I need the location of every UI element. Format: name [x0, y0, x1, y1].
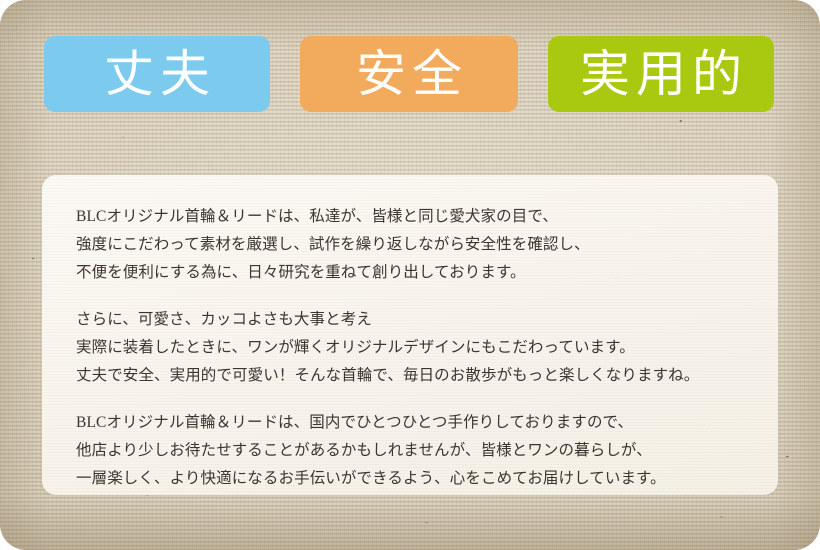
description-paragraph-1: BLCオリジナル首輪＆リードは、私達が、皆様と同じ愛犬家の目で、 強度にこだわっ…	[76, 203, 744, 287]
promo-banner: 丈夫 安全 実用的 BLCオリジナル首輪＆リードは、私達が、皆様と同じ愛犬家の目…	[0, 0, 820, 550]
badge-practical: 実用的	[548, 36, 774, 112]
description-paragraph-3: BLCオリジナル首輪＆リードは、国内でひとつひとつ手作りしておりますので、 他店…	[76, 409, 744, 493]
feature-badge-row: 丈夫 安全 実用的	[44, 36, 774, 112]
description-panel: BLCオリジナル首輪＆リードは、私達が、皆様と同じ愛犬家の目で、 強度にこだわっ…	[42, 175, 778, 495]
badge-safe: 安全	[300, 36, 518, 112]
badge-durable: 丈夫	[44, 36, 270, 112]
description-paragraph-2: さらに、可愛さ、カッコよさも大事と考え 実際に装着したときに、ワンが輝くオリジナ…	[76, 306, 744, 390]
